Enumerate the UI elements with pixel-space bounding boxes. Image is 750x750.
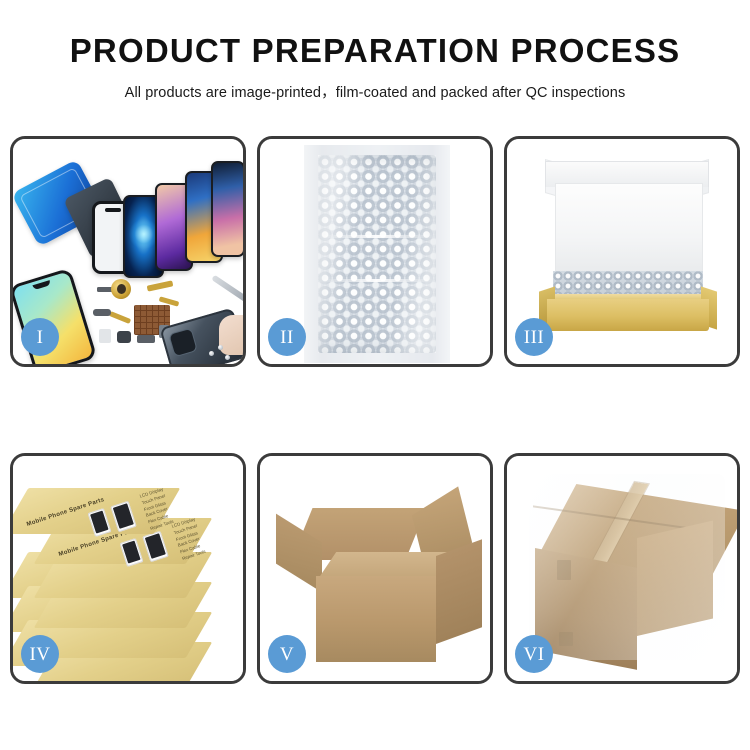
process-step-panel-3: III bbox=[504, 136, 740, 367]
technician-hand bbox=[219, 315, 243, 355]
process-step-panel-2: II bbox=[257, 136, 493, 367]
carton-tab-lower bbox=[559, 632, 573, 646]
bubble-wrap-seam-2 bbox=[318, 279, 436, 282]
screw-2 bbox=[218, 345, 223, 350]
phone-screen-pink bbox=[211, 161, 243, 257]
sealed-carton-side-right bbox=[637, 520, 713, 636]
header: PRODUCT PREPARATION PROCESS All products… bbox=[0, 0, 750, 102]
process-step-grid: I II bbox=[10, 136, 740, 684]
spare-part-speaker-coil bbox=[111, 279, 131, 299]
spare-part-bracket-1 bbox=[93, 309, 111, 316]
screw-3 bbox=[225, 355, 230, 360]
tweezers-tool bbox=[211, 275, 243, 306]
carton-side-right bbox=[436, 539, 482, 644]
step-badge-2: II bbox=[268, 318, 306, 356]
step-badge-6: VI bbox=[515, 635, 553, 673]
plastic-sheen-overlay bbox=[318, 155, 436, 353]
carton-tab-upper bbox=[557, 560, 571, 580]
step-badge-3: III bbox=[515, 318, 553, 356]
spare-part-bracket-2 bbox=[137, 335, 155, 343]
screw-1 bbox=[209, 351, 214, 356]
page-subtitle: All products are image-printed，film-coat… bbox=[0, 81, 750, 102]
bubble-wrap-seam-1 bbox=[318, 235, 436, 238]
spare-part-flex-cable-1 bbox=[147, 280, 174, 291]
step-badge-4: IV bbox=[21, 635, 59, 673]
phone-notch bbox=[32, 280, 51, 290]
spare-part-battery-connector bbox=[99, 329, 111, 343]
page-title: PRODUCT PREPARATION PROCESS bbox=[0, 34, 750, 69]
process-step-panel-4: Mobile Phone Spare Parts LCD Display Tou… bbox=[10, 453, 246, 684]
kraft-box-front bbox=[547, 299, 709, 331]
carton-front-face bbox=[316, 576, 436, 662]
process-step-panel-5: V bbox=[257, 453, 493, 684]
spare-part-flex-cable-3 bbox=[109, 311, 131, 324]
process-step-panel-1: I bbox=[10, 136, 246, 367]
product-preparation-infographic: PRODUCT PREPARATION PROCESS All products… bbox=[0, 0, 750, 750]
process-step-panel-6: VI bbox=[504, 453, 740, 684]
box-lid-white-face bbox=[555, 183, 703, 273]
step-badge-1: I bbox=[21, 318, 59, 356]
spare-part-camera-module bbox=[117, 331, 131, 343]
step-badge-5: V bbox=[268, 635, 306, 673]
